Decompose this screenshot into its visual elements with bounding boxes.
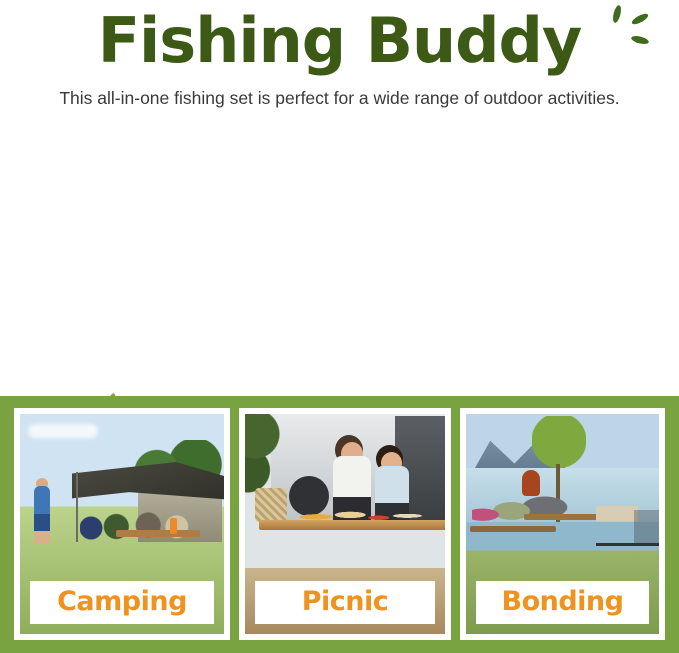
- page-subtitle: This all-in-one fishing set is perfect f…: [0, 86, 679, 110]
- person-head: [522, 470, 540, 496]
- picnic-table: [259, 520, 445, 530]
- picnic-basket: [255, 488, 287, 522]
- title-row: Fishing Buddy: [0, 0, 679, 82]
- sparkle-dashes-icon: [600, 2, 660, 60]
- camp-chair: [596, 506, 638, 546]
- foliage: [245, 414, 295, 494]
- product-hero-image: DaddyGofish DaddyGofish: [0, 152, 679, 396]
- use-case-band: Camping Picn: [0, 396, 679, 653]
- card-label-plate: Camping: [30, 581, 214, 624]
- card-label: Bonding: [480, 588, 645, 615]
- card-label-plate: Bonding: [476, 581, 649, 624]
- product-infographic: Fishing Buddy This all-in-one fishing se…: [0, 0, 679, 653]
- cloud: [28, 424, 98, 438]
- use-case-card-list: Camping Picn: [14, 408, 665, 640]
- person-standing: [34, 486, 50, 544]
- camp-table: [116, 530, 200, 537]
- camp-chair: [634, 510, 659, 546]
- camping-photo: Camping: [20, 414, 224, 634]
- header-section: Fishing Buddy This all-in-one fishing se…: [0, 0, 679, 152]
- card-label: Picnic: [259, 588, 431, 615]
- drink-bottle: [170, 518, 177, 534]
- bonding-photo: Bonding: [466, 414, 659, 634]
- card-label-plate: Picnic: [255, 581, 435, 624]
- picnic-photo: Picnic: [245, 414, 445, 634]
- use-case-card-bonding[interactable]: Bonding: [460, 408, 665, 640]
- use-case-card-picnic[interactable]: Picnic: [239, 408, 451, 640]
- use-case-card-camping[interactable]: Camping: [14, 408, 230, 640]
- page-title: Fishing Buddy: [98, 10, 582, 72]
- card-label: Camping: [34, 588, 210, 615]
- tarp-pole: [76, 472, 78, 542]
- bench: [470, 526, 556, 532]
